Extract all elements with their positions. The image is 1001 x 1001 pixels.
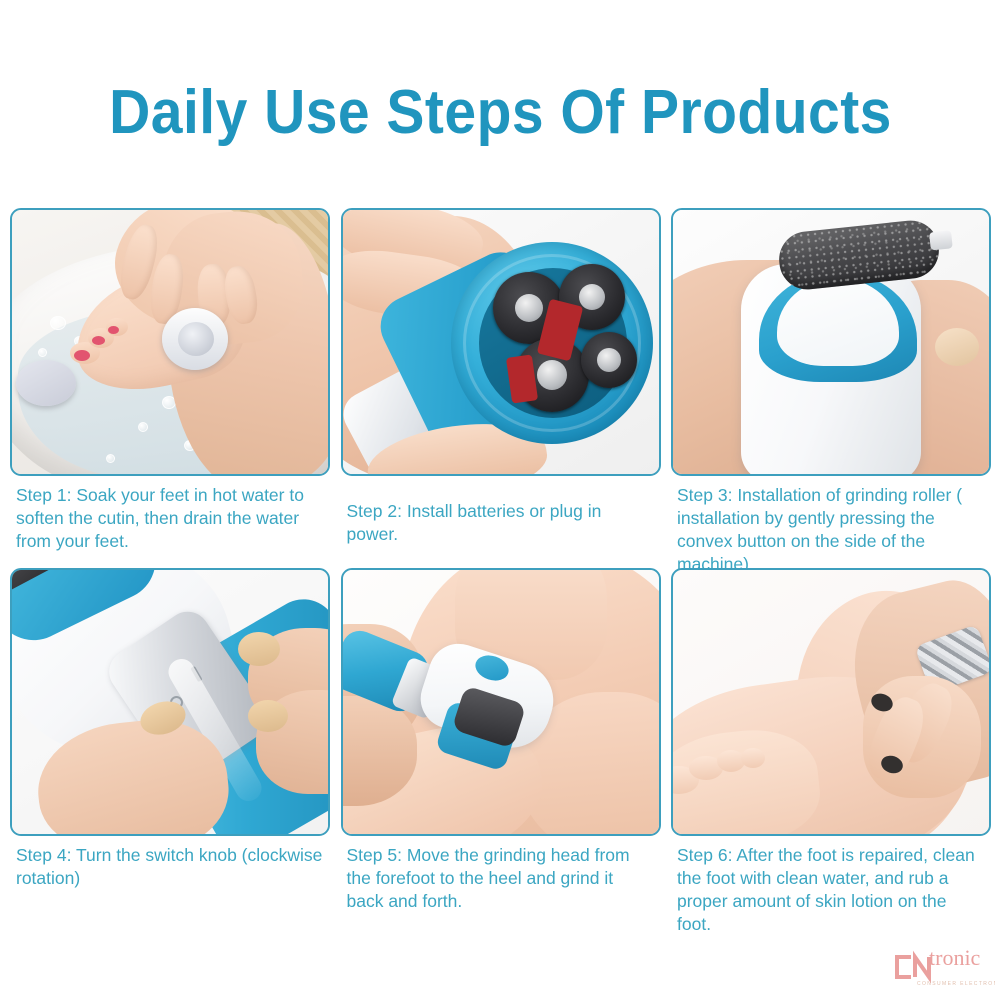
step-1-photo xyxy=(10,208,330,476)
steps-grid: Step 1: Soak your feet in hot water to s… xyxy=(10,208,991,943)
step-1-caption: Step 1: Soak your feet in hot water to s… xyxy=(10,480,330,568)
step-6-photo xyxy=(671,568,991,836)
step-5-photo xyxy=(341,568,661,836)
page-title: Daily Use Steps Of Products xyxy=(40,82,961,144)
infographic-page: Daily Use Steps Of Products xyxy=(0,0,1001,1001)
watermark-tagline: CONSUMER ELECTRONICS xyxy=(917,981,995,987)
step-6-caption: Step 6: After the foot is repaired, clea… xyxy=(671,840,991,940)
step-4-caption: Step 4: Turn the switch knob (clockwise … xyxy=(10,840,330,940)
step-3-photo xyxy=(671,208,991,476)
scene-battery-install xyxy=(343,210,659,474)
scene-grinding-foot xyxy=(343,570,659,834)
watermark-brand-text: tronic xyxy=(929,945,981,970)
scene-switch-knob xyxy=(12,570,328,834)
scene-roller-install xyxy=(673,210,989,474)
step-5-caption: Step 5: Move the grinding head from the … xyxy=(341,840,661,940)
step-3-caption: Step 3: Installation of grinding roller … xyxy=(671,480,991,568)
scene-apply-lotion xyxy=(673,570,989,834)
step-4-photo xyxy=(10,568,330,836)
cntronic-watermark-logo: tronic CONSUMER ELECTRONICS xyxy=(891,941,995,991)
step-2-photo xyxy=(341,208,661,476)
scene-foot-soak xyxy=(12,210,328,474)
step-2-caption: Step 2: Install batteries or plug in pow… xyxy=(341,480,661,568)
